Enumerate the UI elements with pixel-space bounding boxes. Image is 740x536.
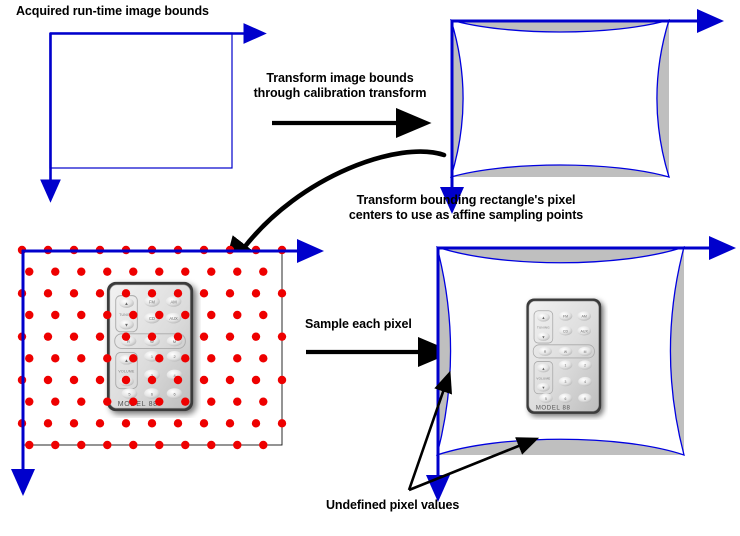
sample-point	[25, 267, 33, 275]
sample-point	[226, 332, 234, 340]
sample-point	[233, 311, 241, 319]
sample-point	[51, 397, 59, 405]
sample-point	[25, 441, 33, 449]
sample-point	[252, 376, 260, 384]
sample-point	[278, 289, 286, 297]
sample-point	[129, 267, 137, 275]
sample-point	[103, 397, 111, 405]
sample-point	[25, 311, 33, 319]
sample-point	[259, 267, 267, 275]
sample-point	[51, 267, 59, 275]
sample-point	[44, 419, 52, 427]
sample-point	[181, 354, 189, 362]
sample-point	[226, 289, 234, 297]
sample-point	[25, 354, 33, 362]
sample-point	[207, 267, 215, 275]
sample-point	[44, 289, 52, 297]
sample-point	[129, 397, 137, 405]
sample-point	[155, 441, 163, 449]
sample-point	[51, 311, 59, 319]
sample-point	[122, 376, 130, 384]
acquired-bounds-label: Acquired run-time image bounds	[16, 4, 209, 19]
sample-point	[252, 332, 260, 340]
sample-point	[148, 289, 156, 297]
remote-control-photo-result	[526, 298, 601, 413]
sample-point	[207, 441, 215, 449]
sample-point	[278, 419, 286, 427]
sample-point	[122, 332, 130, 340]
sample-point	[181, 397, 189, 405]
sample-point	[122, 289, 130, 297]
transformed-image-outline	[451, 20, 669, 177]
sample-point	[200, 376, 208, 384]
sample-point	[233, 441, 241, 449]
sample-point	[259, 441, 267, 449]
sample-point	[207, 397, 215, 405]
sample-point	[278, 332, 286, 340]
sample-point	[70, 419, 78, 427]
sample-point	[148, 332, 156, 340]
sample-point	[96, 376, 104, 384]
sample-point	[200, 332, 208, 340]
sample-point	[233, 354, 241, 362]
sample-point	[44, 376, 52, 384]
sample-point	[174, 289, 182, 297]
sample-point	[155, 354, 163, 362]
sample-point	[77, 311, 85, 319]
sample-point	[174, 419, 182, 427]
sample-each-pixel-label: Sample each pixel	[305, 317, 412, 332]
sample-point	[51, 441, 59, 449]
sample-point	[77, 267, 85, 275]
sample-point	[122, 419, 130, 427]
sample-point	[155, 311, 163, 319]
sample-point	[259, 311, 267, 319]
sampled-result-panel	[437, 247, 712, 478]
sample-point	[129, 311, 137, 319]
transform-pixel-centers-label: Transform bounding rectangle's pixel cen…	[330, 193, 602, 223]
sample-point	[96, 289, 104, 297]
transform-bounds-label: Transform image bounds through calibrati…	[249, 71, 431, 101]
sample-point	[278, 376, 286, 384]
sample-point	[70, 376, 78, 384]
acquired-image-bounds-panel	[50, 33, 246, 182]
sample-point	[155, 397, 163, 405]
sample-point	[155, 267, 163, 275]
sample-point	[181, 267, 189, 275]
sample-point	[103, 441, 111, 449]
sample-point	[51, 354, 59, 362]
sample-point	[207, 354, 215, 362]
sample-point	[233, 397, 241, 405]
sample-point	[25, 397, 33, 405]
sample-point	[259, 354, 267, 362]
source-bounds-rect	[50, 33, 232, 168]
sample-point	[103, 354, 111, 362]
sample-point	[77, 441, 85, 449]
sample-point	[181, 441, 189, 449]
sample-point	[252, 419, 260, 427]
sample-point	[96, 332, 104, 340]
sample-point	[148, 419, 156, 427]
sample-point	[200, 289, 208, 297]
sample-point	[77, 354, 85, 362]
diagram-canvas: ▲ TUNING ▼ FM AM CD AUX R W M	[0, 0, 740, 536]
transformed-bounds-panel	[451, 20, 700, 190]
sample-point	[77, 397, 85, 405]
remote-control-photo	[107, 282, 193, 411]
sampling-grid-panel	[18, 246, 300, 472]
sample-point	[226, 376, 234, 384]
sample-point	[129, 441, 137, 449]
sample-point	[148, 376, 156, 384]
sample-point	[96, 419, 104, 427]
sample-point	[103, 267, 111, 275]
undefined-pixel-values-label: Undefined pixel values	[326, 498, 459, 513]
sample-point	[226, 419, 234, 427]
sample-point	[70, 289, 78, 297]
sample-point	[70, 332, 78, 340]
sample-point	[233, 267, 241, 275]
sample-point	[181, 311, 189, 319]
sample-point	[200, 419, 208, 427]
sample-point	[174, 376, 182, 384]
sample-point	[207, 311, 215, 319]
sample-point	[44, 332, 52, 340]
sample-point	[259, 397, 267, 405]
sample-point	[103, 311, 111, 319]
sample-point	[129, 354, 137, 362]
sample-point	[174, 332, 182, 340]
sample-point	[252, 289, 260, 297]
